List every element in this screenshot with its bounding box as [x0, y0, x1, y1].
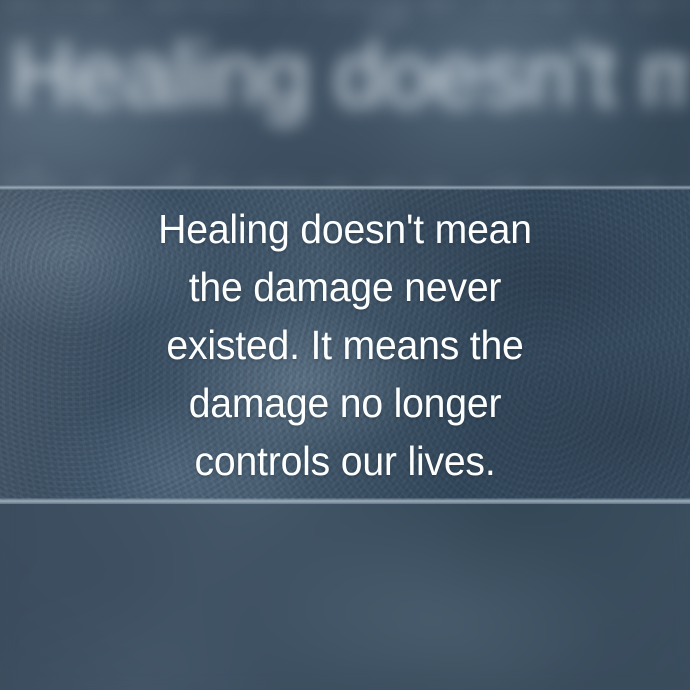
quote-line: damage no longer: [16, 374, 675, 432]
texture-layer: [0, 500, 690, 690]
quote-image: the damage never Healing doesn't mean th…: [0, 0, 690, 690]
blurred-backdrop-bottom: [0, 500, 690, 690]
backdrop-texture-top: [0, 0, 690, 190]
blurred-backdrop-top: [0, 0, 690, 190]
quote-line: Healing doesn't mean: [16, 200, 675, 258]
quote-line: the damage never: [16, 258, 675, 316]
texture-layer: [0, 0, 690, 190]
quote-line: existed. It means the: [16, 316, 675, 374]
backdrop-texture-bottom: [0, 500, 690, 690]
quote-line: controls our lives.: [16, 432, 675, 490]
quote-text: Healing doesn't mean the damage never ex…: [0, 189, 690, 500]
